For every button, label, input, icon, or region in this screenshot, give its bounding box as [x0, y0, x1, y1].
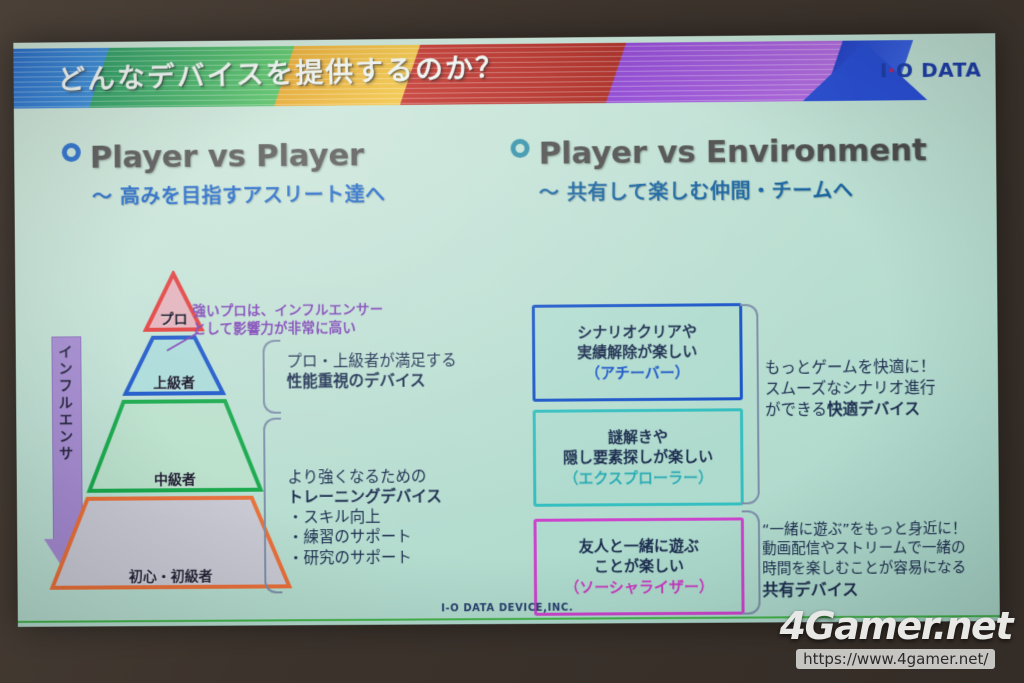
note-bold: 快適デバイス: [827, 399, 920, 418]
note-bold: 共有デバイス: [762, 580, 858, 600]
watermark-logo: 4Gamer.net: [780, 604, 1012, 648]
pve-box-explorer: 謎解きや 隠し要素探しが楽しい （エクスプローラー）: [533, 408, 744, 507]
ring-bullet-icon: [510, 139, 529, 158]
box-line-1: 謎解きや: [608, 427, 668, 448]
callout-line-1: 強いプロは、インフルエンサー: [192, 301, 383, 321]
brace-performance: [262, 340, 281, 414]
pyramid-label-advanced: 上級者: [153, 372, 195, 396]
pve-note-shared: “一緒に遊ぶ”をもっと身近に！ 動画配信やストリームで一緒の 時間を楽しむことが…: [762, 520, 967, 601]
pyramid-label-intermediate: 中級者: [154, 469, 196, 493]
logo-dot: ·: [888, 58, 896, 82]
note-bullet: ・スキル向上: [288, 507, 442, 528]
brace-training: [263, 418, 282, 594]
note-line: 動画配信やストリームで一緒の: [762, 539, 967, 560]
note-line: 時間を楽しむことが容易になる: [762, 559, 967, 580]
box-line-2: 隠し要素探しが楽しい: [563, 446, 713, 467]
pve-note-comfort: もっとゲームを快適に！ スムーズなシナリオ進行 ができる快適デバイス: [765, 357, 936, 421]
note-line: より強くなるための: [287, 466, 441, 487]
heading-right-subtitle: ～ 共有して楽しむ仲間・チームへ: [539, 173, 927, 205]
note-line: “一緒に遊ぶ”をもっと身近に！: [762, 520, 967, 541]
brace-comfort-device: [740, 304, 760, 504]
note-bullet: ・研究のサポート: [288, 547, 442, 568]
watermark-url: https://www.4gamer.net/: [796, 649, 995, 669]
box-line-2: ことが楽しい: [594, 556, 684, 577]
heading-right-title: Player vs Environment: [538, 132, 926, 172]
heading-left-title: Player vs Player: [90, 137, 364, 175]
pyramid-note-training: より強くなるための トレーニングデバイス ・スキル向上 ・練習のサポート ・研究…: [287, 466, 442, 568]
io-data-logo: I·O DATA: [880, 57, 982, 82]
pyramid-callout-text: 強いプロは、インフルエンサー として影響力が非常に高い: [192, 301, 383, 339]
pyramid-label-beginner: 初心・初級者: [129, 566, 213, 590]
note-line: もっとゲームを快適に！: [765, 357, 936, 379]
box-tag: （エクスプローラー）: [563, 468, 713, 489]
note-bold-line: トレーニングデバイス: [288, 487, 442, 508]
pve-box-achiever: シナリオクリアや 実績解除が楽しい （アチーバー）: [532, 303, 743, 402]
pyramid-layer-beginner: 初心・初級者: [49, 494, 293, 590]
note-bullet: ・練習のサポート: [288, 527, 442, 548]
box-line-1: 友人と一緒に遊ぶ: [579, 536, 699, 557]
box-tag: （アチーバー）: [585, 363, 690, 384]
callout-line-2: として影響力が非常に高い: [193, 319, 384, 339]
pyramid-note-performance: プロ・上級者が満足する 性能重視のデバイス: [286, 350, 457, 392]
heading-left-subtitle: ～ 高みを目指すアスリート達へ: [92, 178, 386, 210]
box-line-1: シナリオクリアや: [577, 321, 697, 342]
box-tag: （ソーシャライザー）: [564, 577, 714, 598]
watermark: 4Gamer.net https://www.4gamer.net/: [780, 604, 1012, 669]
note-line: プロ・上級者が満足する: [286, 350, 456, 371]
heading-player-vs-player: Player vs Player ～ 高みを目指すアスリート達へ: [62, 137, 386, 210]
note-bold-line: 性能重視のデバイス: [287, 371, 457, 392]
brace-shared-device: [742, 510, 761, 614]
box-line-2: 実績解除が楽しい: [577, 341, 697, 362]
pyramid-layer-intermediate: 中級者: [86, 398, 264, 494]
photo-of-projected-slide: どんなデバイスを提供するのか？ I·O DATA Player vs Playe…: [0, 0, 1024, 683]
ring-bullet-icon: [62, 143, 81, 162]
note-line-3: ができる快適デバイス: [765, 398, 936, 420]
pyramid-label-pro: プロ: [160, 309, 188, 333]
heading-player-vs-environment: Player vs Environment ～ 共有して楽しむ仲間・チームへ: [510, 132, 926, 206]
presentation-slide: どんなデバイスを提供するのか？ I·O DATA Player vs Playe…: [13, 33, 1000, 627]
note-line: スムーズなシナリオ進行: [765, 378, 936, 400]
